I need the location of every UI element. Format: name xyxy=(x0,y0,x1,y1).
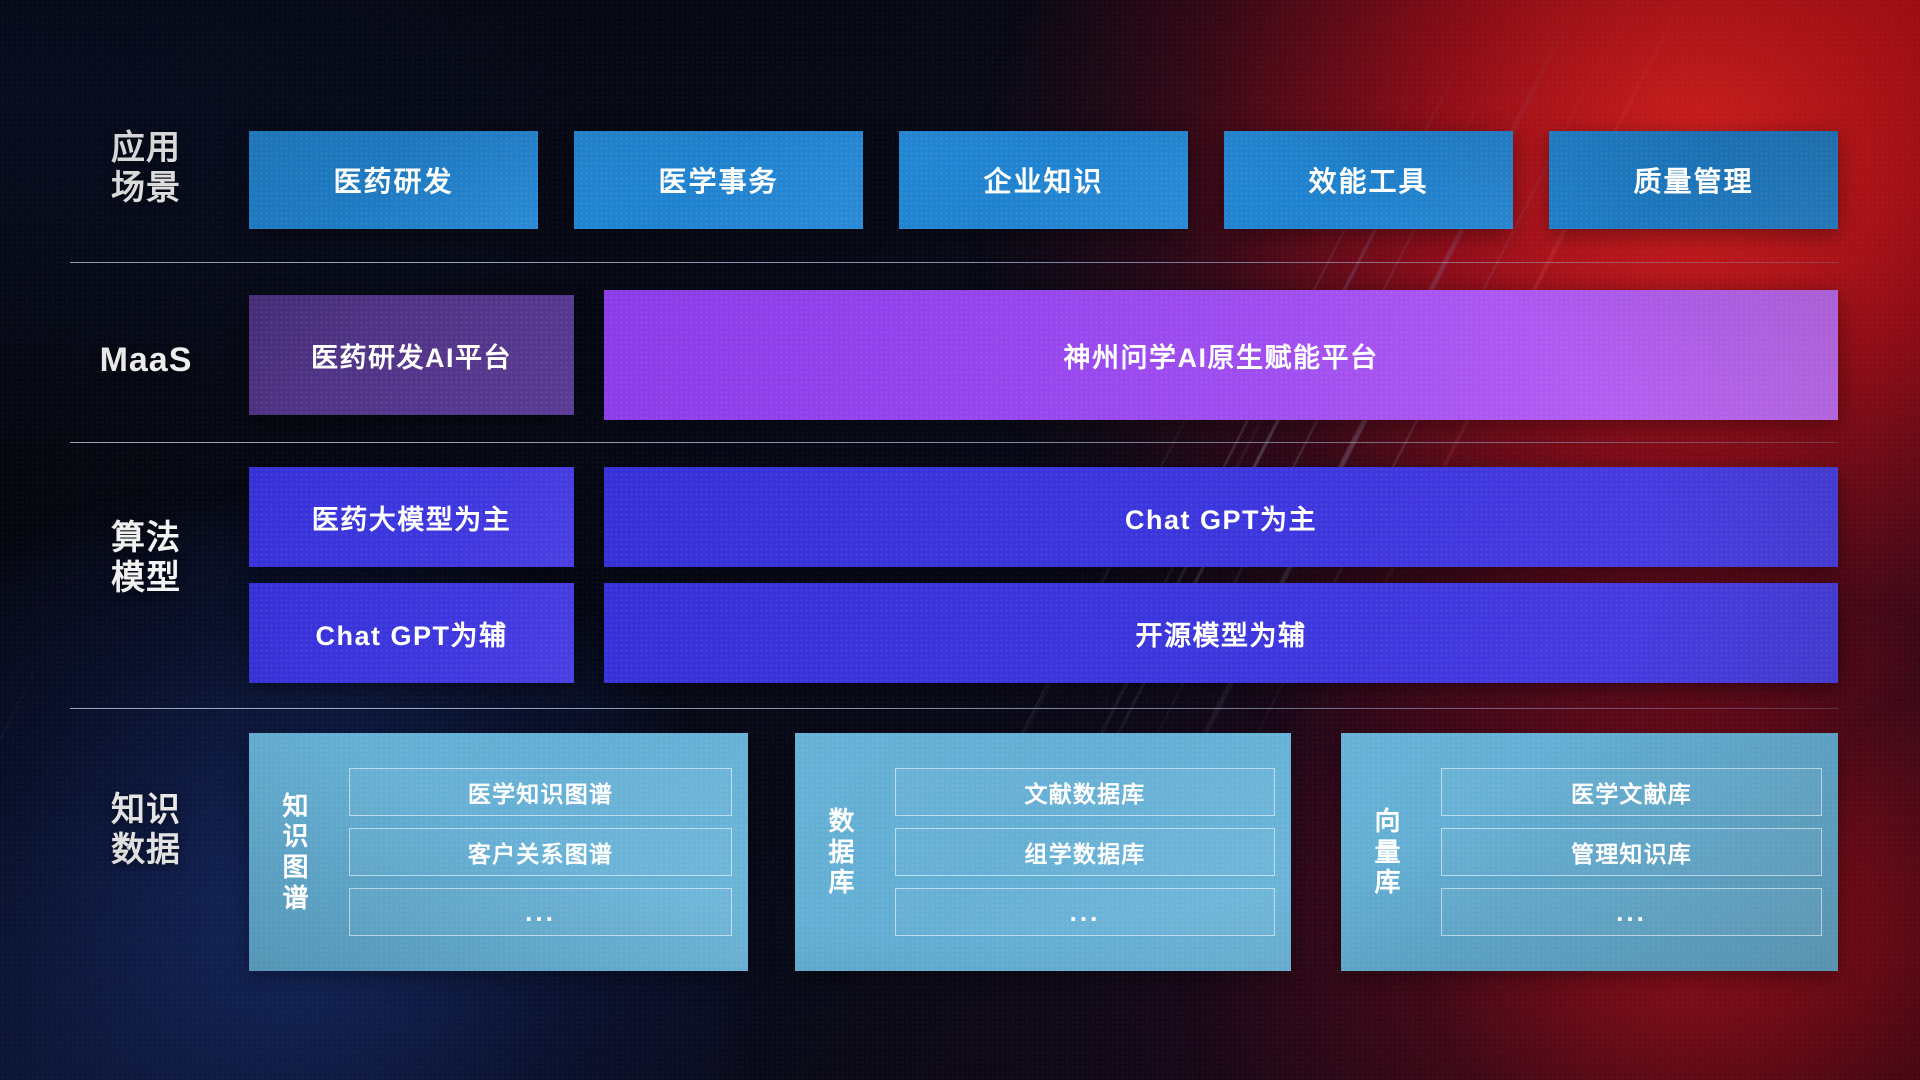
scenario-card-label: 质量管理 xyxy=(1633,160,1753,200)
knowledge-card-database[interactable]: 数 据 库 文献数据库 组学数据库 ... xyxy=(795,733,1291,971)
knowledge-item[interactable]: 医学知识图谱 xyxy=(349,768,732,816)
knowledge-card-items: 医学知识图谱 客户关系图谱 ... xyxy=(343,733,748,971)
algorithm-label: 医药大模型为主 xyxy=(312,498,512,537)
knowledge-card-knowledge-graph[interactable]: 知 识 图 谱 医学知识图谱 客户关系图谱 ... xyxy=(249,733,748,971)
knowledge-item-more[interactable]: ... xyxy=(349,888,732,936)
maas-platform-left-label: 医药研发AI平台 xyxy=(311,336,512,375)
algorithm-label: Chat GPT为辅 xyxy=(315,614,507,653)
scenario-card-label: 医药研发 xyxy=(333,160,453,200)
algorithm-label: 开源模型为辅 xyxy=(1136,614,1307,653)
scenario-card-label: 效能工具 xyxy=(1308,160,1428,200)
maas-platform-right-label: 神州问学AI原生赋能平台 xyxy=(1064,336,1379,375)
knowledge-card-title: 数 据 库 xyxy=(795,733,889,971)
knowledge-item[interactable]: 客户关系图谱 xyxy=(349,828,732,876)
scenario-card-label: 企业知识 xyxy=(983,160,1103,200)
knowledge-item[interactable]: 医学文献库 xyxy=(1441,768,1822,816)
knowledge-card-title: 向 量 库 xyxy=(1341,733,1435,971)
knowledge-item[interactable]: 管理知识库 xyxy=(1441,828,1822,876)
algorithm-label: Chat GPT为主 xyxy=(1125,498,1317,537)
knowledge-card-vector-store[interactable]: 向 量 库 医学文献库 管理知识库 ... xyxy=(1341,733,1838,971)
knowledge-card-title: 知 识 图 谱 xyxy=(249,733,343,971)
knowledge-item[interactable]: 文献数据库 xyxy=(895,768,1275,816)
knowledge-card-items: 文献数据库 组学数据库 ... xyxy=(889,733,1291,971)
knowledge-item[interactable]: 组学数据库 xyxy=(895,828,1275,876)
slide-canvas: 应用 场景 医药研发 医学事务 企业知识 效能工具 质量管理 MaaS 医药研发… xyxy=(0,0,1920,1080)
scenario-card-label: 医学事务 xyxy=(658,160,778,200)
knowledge-item-more[interactable]: ... xyxy=(1441,888,1822,936)
knowledge-card-items: 医学文献库 管理知识库 ... xyxy=(1435,733,1838,971)
knowledge-item-more[interactable]: ... xyxy=(895,888,1275,936)
